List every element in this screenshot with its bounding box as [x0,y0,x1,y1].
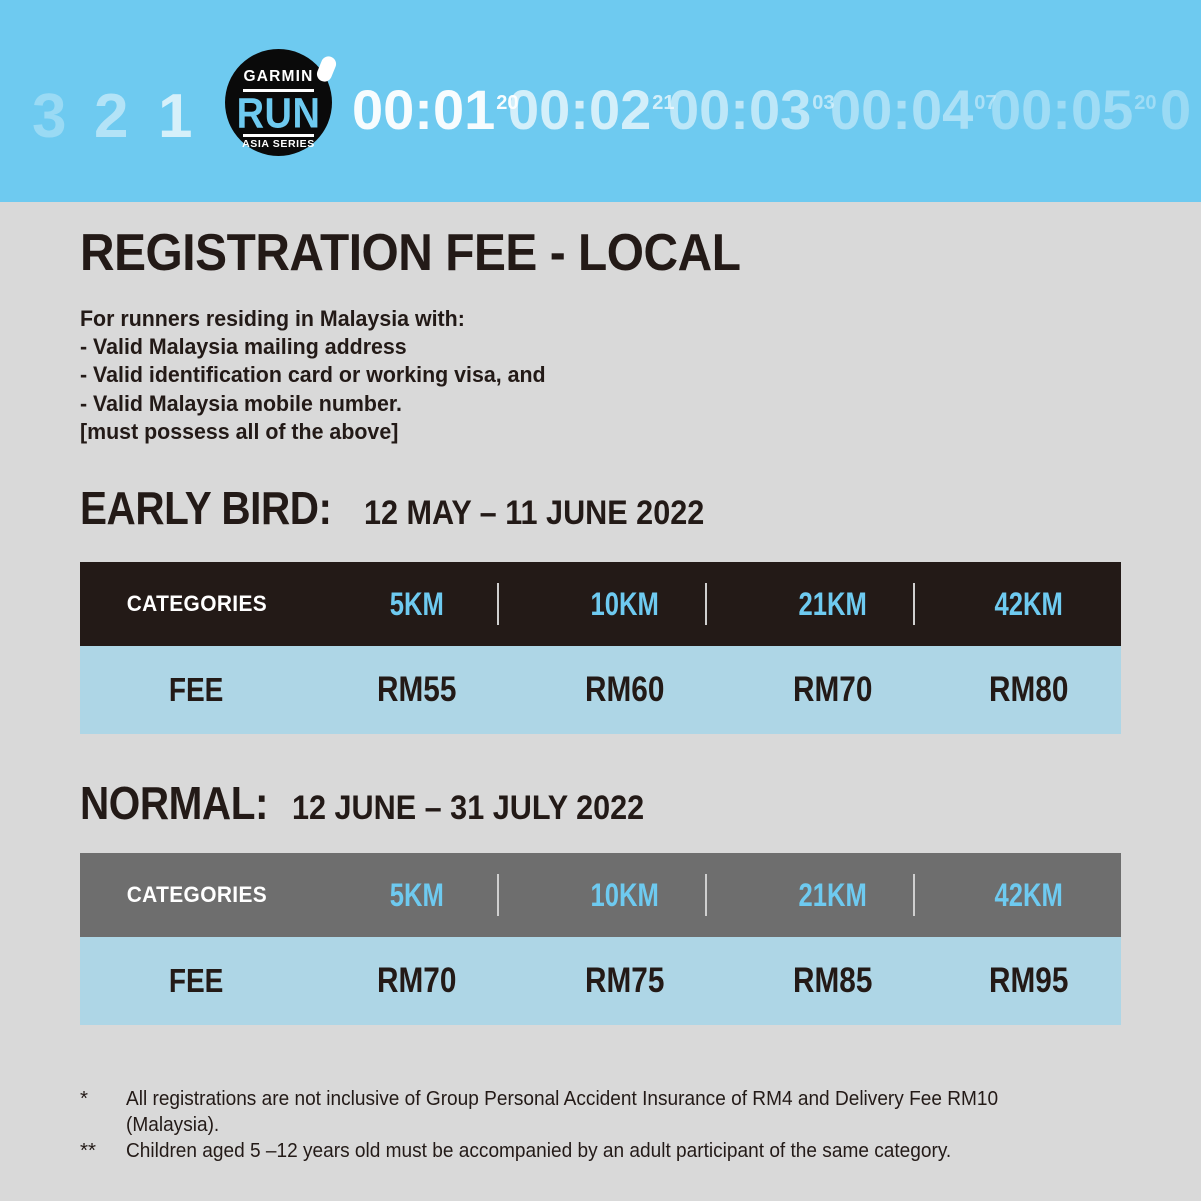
body-cell-fee-10km: RM75 [521,937,729,1025]
footnote-marker-2: ** [80,1138,120,1164]
fee-table-normal: CATEGORIES 5KM 10KM 21KM 42KM FEE RM70 R… [80,853,1121,1025]
section-name-early-bird: EARLY BIRD: [80,485,332,531]
logo-brand-text: GARMIN [225,69,332,85]
header-cell-42km: 42KM [937,562,1121,646]
header-cell-categories: CATEGORIES [80,853,313,937]
footnote-marker-1: * [80,1086,120,1112]
section-name-normal: NORMAL: [80,780,268,826]
header-cell-42km: 42KM [937,853,1121,937]
table-row: FEE RM70 RM75 RM85 RM95 [80,937,1121,1025]
header-cell-categories: CATEGORIES [80,562,313,646]
intro-line-5: [must possess all of the above] [80,418,546,446]
eligibility-requirements: For runners residing in Malaysia with: -… [80,305,546,446]
header-cell-10km: 10KM [521,853,729,937]
logo-divider-bottom [243,134,314,137]
event-banner: 3 2 1 GARMIN RUN ASIA SERIES 00:0120 00:… [0,0,1201,202]
section-heading-normal: NORMAL:12 JUNE – 31 JULY 2022 [80,780,683,826]
intro-line-1: For runners residing in Malaysia with: [80,305,546,333]
section-dates-normal: 12 JUNE – 31 JULY 2022 [292,791,644,825]
footnote-text-2: Children aged 5 –12 years old must be ac… [126,1138,1069,1164]
body-cell-fee-5km: RM70 [313,937,521,1025]
header-cell-10km: 10KM [521,562,729,646]
column-divider-1 [497,583,499,625]
fee-table-early-bird: CATEGORIES 5KM 10KM 21KM 42KM FEE RM55 R… [80,562,1121,734]
body-cell-fee-42km: RM80 [937,646,1121,734]
countdown-digit-3: 3 [32,86,66,148]
footnote-text-1: All registrations are not inclusive of G… [126,1086,1069,1138]
column-divider-2 [705,874,707,916]
column-divider-1 [497,874,499,916]
table-row: FEE RM55 RM60 RM70 RM80 [80,646,1121,734]
body-cell-fee-5km: RM55 [313,646,521,734]
timer-value-6-clipped: 0 [1160,82,1191,138]
header-cell-21km: 21KM [729,562,937,646]
body-cell-fee-10km: RM60 [521,646,729,734]
intro-line-2: - Valid Malaysia mailing address [80,333,546,361]
footnote-2: ** Children aged 5 –12 years old must be… [80,1138,1140,1164]
header-cell-5km: 5KM [313,562,521,646]
timer-value-2: 00:0221 [508,82,674,138]
timer-value-5: 00:0520 [990,82,1156,138]
banner-timer-strip: 3 2 1 GARMIN RUN ASIA SERIES 00:0120 00:… [0,0,1201,202]
header-cell-21km: 21KM [729,853,937,937]
column-divider-3 [913,583,915,625]
garmin-run-logo: GARMIN RUN ASIA SERIES [219,43,338,162]
timer-value-3: 00:0303 [668,82,834,138]
table-header-row-normal: CATEGORIES 5KM 10KM 21KM 42KM [80,853,1121,937]
body-cell-fee-21km: RM85 [729,937,937,1025]
page-title: REGISTRATION FEE - LOCAL [80,227,740,279]
countdown-digit-1: 1 [158,86,192,148]
timer-value-4: 00:0407 [830,82,996,138]
section-heading-early-bird: EARLY BIRD:12 MAY – 11 JUNE 2022 [80,485,742,531]
body-cell-fee-42km: RM95 [937,937,1121,1025]
body-cell-fee-21km: RM70 [729,646,937,734]
footnotes: * All registrations are not inclusive of… [80,1086,1140,1164]
header-cell-5km: 5KM [313,853,521,937]
countdown-digit-2: 2 [94,86,128,148]
body-cell-fee-label: FEE [80,937,313,1025]
table-header-row-early-bird: CATEGORIES 5KM 10KM 21KM 42KM [80,562,1121,646]
logo-event-text: RUN [225,93,332,136]
body-cell-fee-label: FEE [80,646,313,734]
footnote-1: * All registrations are not inclusive of… [80,1086,1140,1138]
column-divider-3 [913,874,915,916]
logo-series-text: ASIA SERIES [225,139,332,150]
timer-value-1: 00:0120 [352,82,518,138]
section-dates-early-bird: 12 MAY – 11 JUNE 2022 [364,496,704,530]
intro-line-4: - Valid Malaysia mobile number. [80,390,546,418]
column-divider-2 [705,583,707,625]
intro-line-3: - Valid identification card or working v… [80,361,546,389]
